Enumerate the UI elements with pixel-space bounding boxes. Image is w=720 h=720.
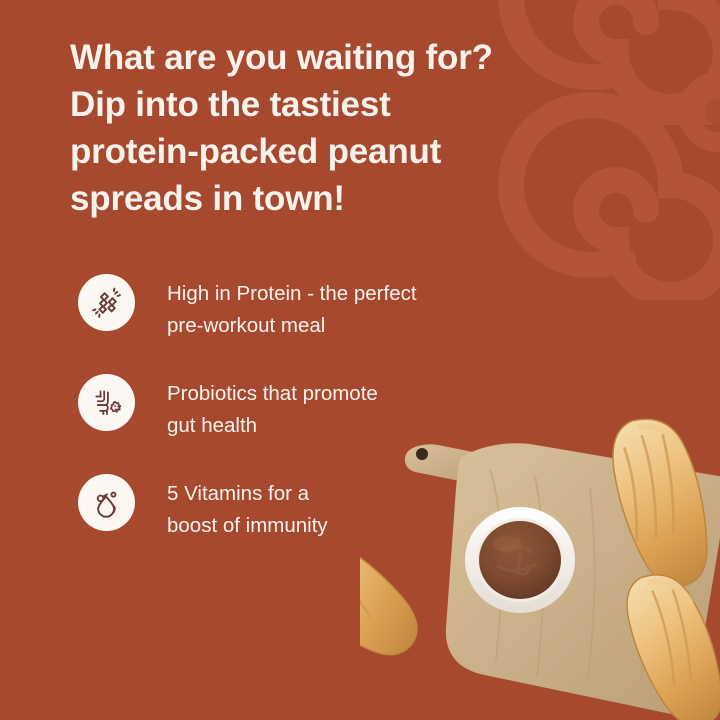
protein-strand-icon — [78, 274, 135, 331]
gut-probiotic-icon — [78, 374, 135, 431]
list-item: 5 Vitamins for a boost of immunity — [78, 472, 508, 572]
list-item-label: High in Protein - the perfect pre-workou… — [167, 278, 417, 342]
feature-list: High in Protein - the perfect pre-workou… — [78, 272, 508, 572]
list-item-label: 5 Vitamins for a boost of immunity — [167, 478, 328, 542]
list-item-label: Probiotics that promote gut health — [167, 378, 378, 442]
page-title: What are you waiting for? Dip into the t… — [70, 34, 540, 222]
list-item: High in Protein - the perfect pre-workou… — [78, 272, 508, 372]
list-item: Probiotics that promote gut health — [78, 372, 508, 472]
vitamin-droplet-icon — [78, 474, 135, 531]
promo-poster: What are you waiting for? Dip into the t… — [0, 0, 720, 720]
